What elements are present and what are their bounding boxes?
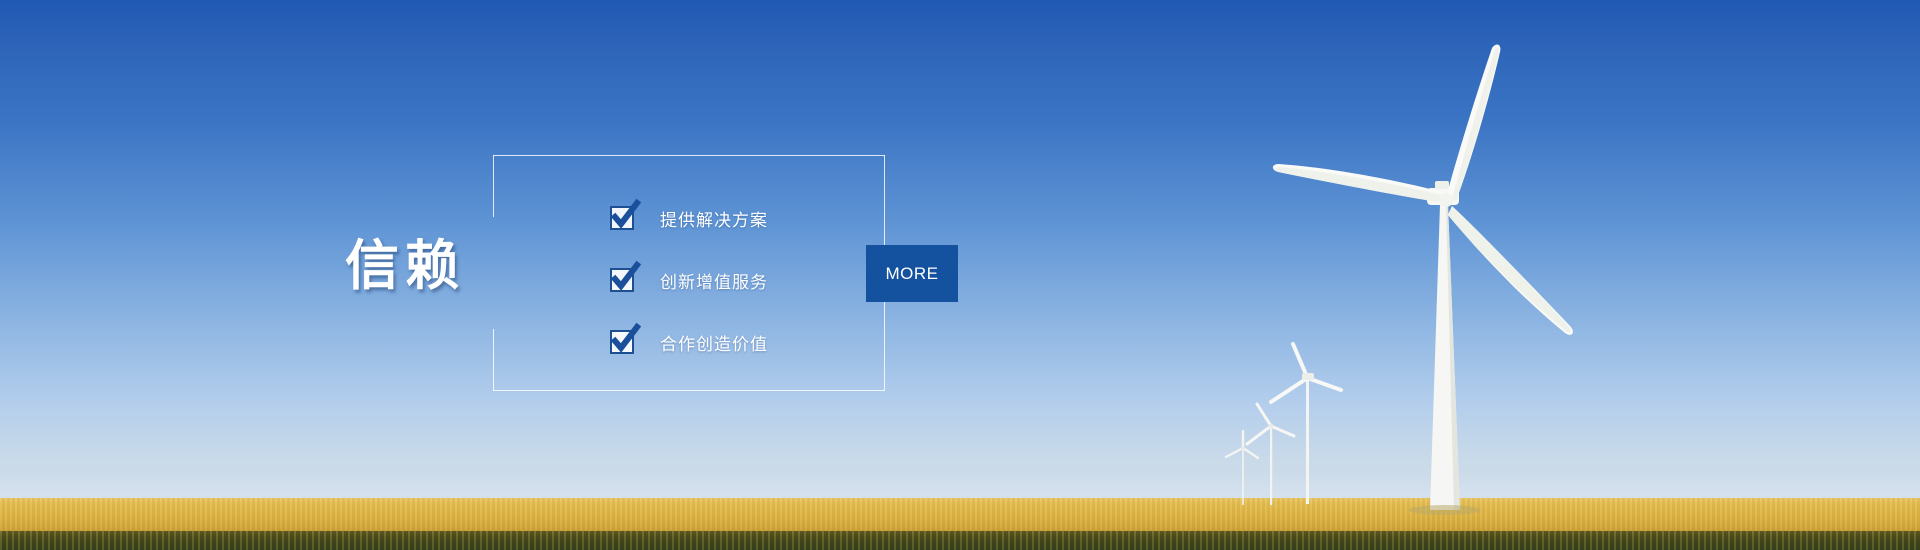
- frame-border-bottom: [493, 390, 885, 391]
- list-item[interactable]: 提供解决方案: [610, 203, 768, 233]
- hero-banner: 信赖 提供解决方案 创新增值服务 合: [0, 0, 1920, 550]
- more-button[interactable]: MORE: [866, 245, 958, 302]
- list-item-label: 提供解决方案: [660, 206, 768, 231]
- page-title: 信赖: [345, 239, 465, 293]
- grass-strip: [0, 531, 1920, 550]
- check-icon: [610, 330, 634, 354]
- list-item[interactable]: 合作创造价值: [610, 327, 768, 357]
- frame-border-top: [493, 155, 885, 156]
- list-item-label: 创新增值服务: [660, 268, 768, 293]
- wind-turbine-main: [1270, 40, 1650, 520]
- frame-border-left-upper: [493, 155, 494, 217]
- check-icon: [610, 268, 634, 292]
- list-item[interactable]: 创新增值服务: [610, 265, 768, 295]
- feature-list: 提供解决方案 创新增值服务 合作创造价值: [610, 203, 768, 357]
- frame-border-left-lower: [493, 329, 494, 391]
- check-icon: [610, 206, 634, 230]
- list-item-label: 合作创造价值: [660, 330, 768, 355]
